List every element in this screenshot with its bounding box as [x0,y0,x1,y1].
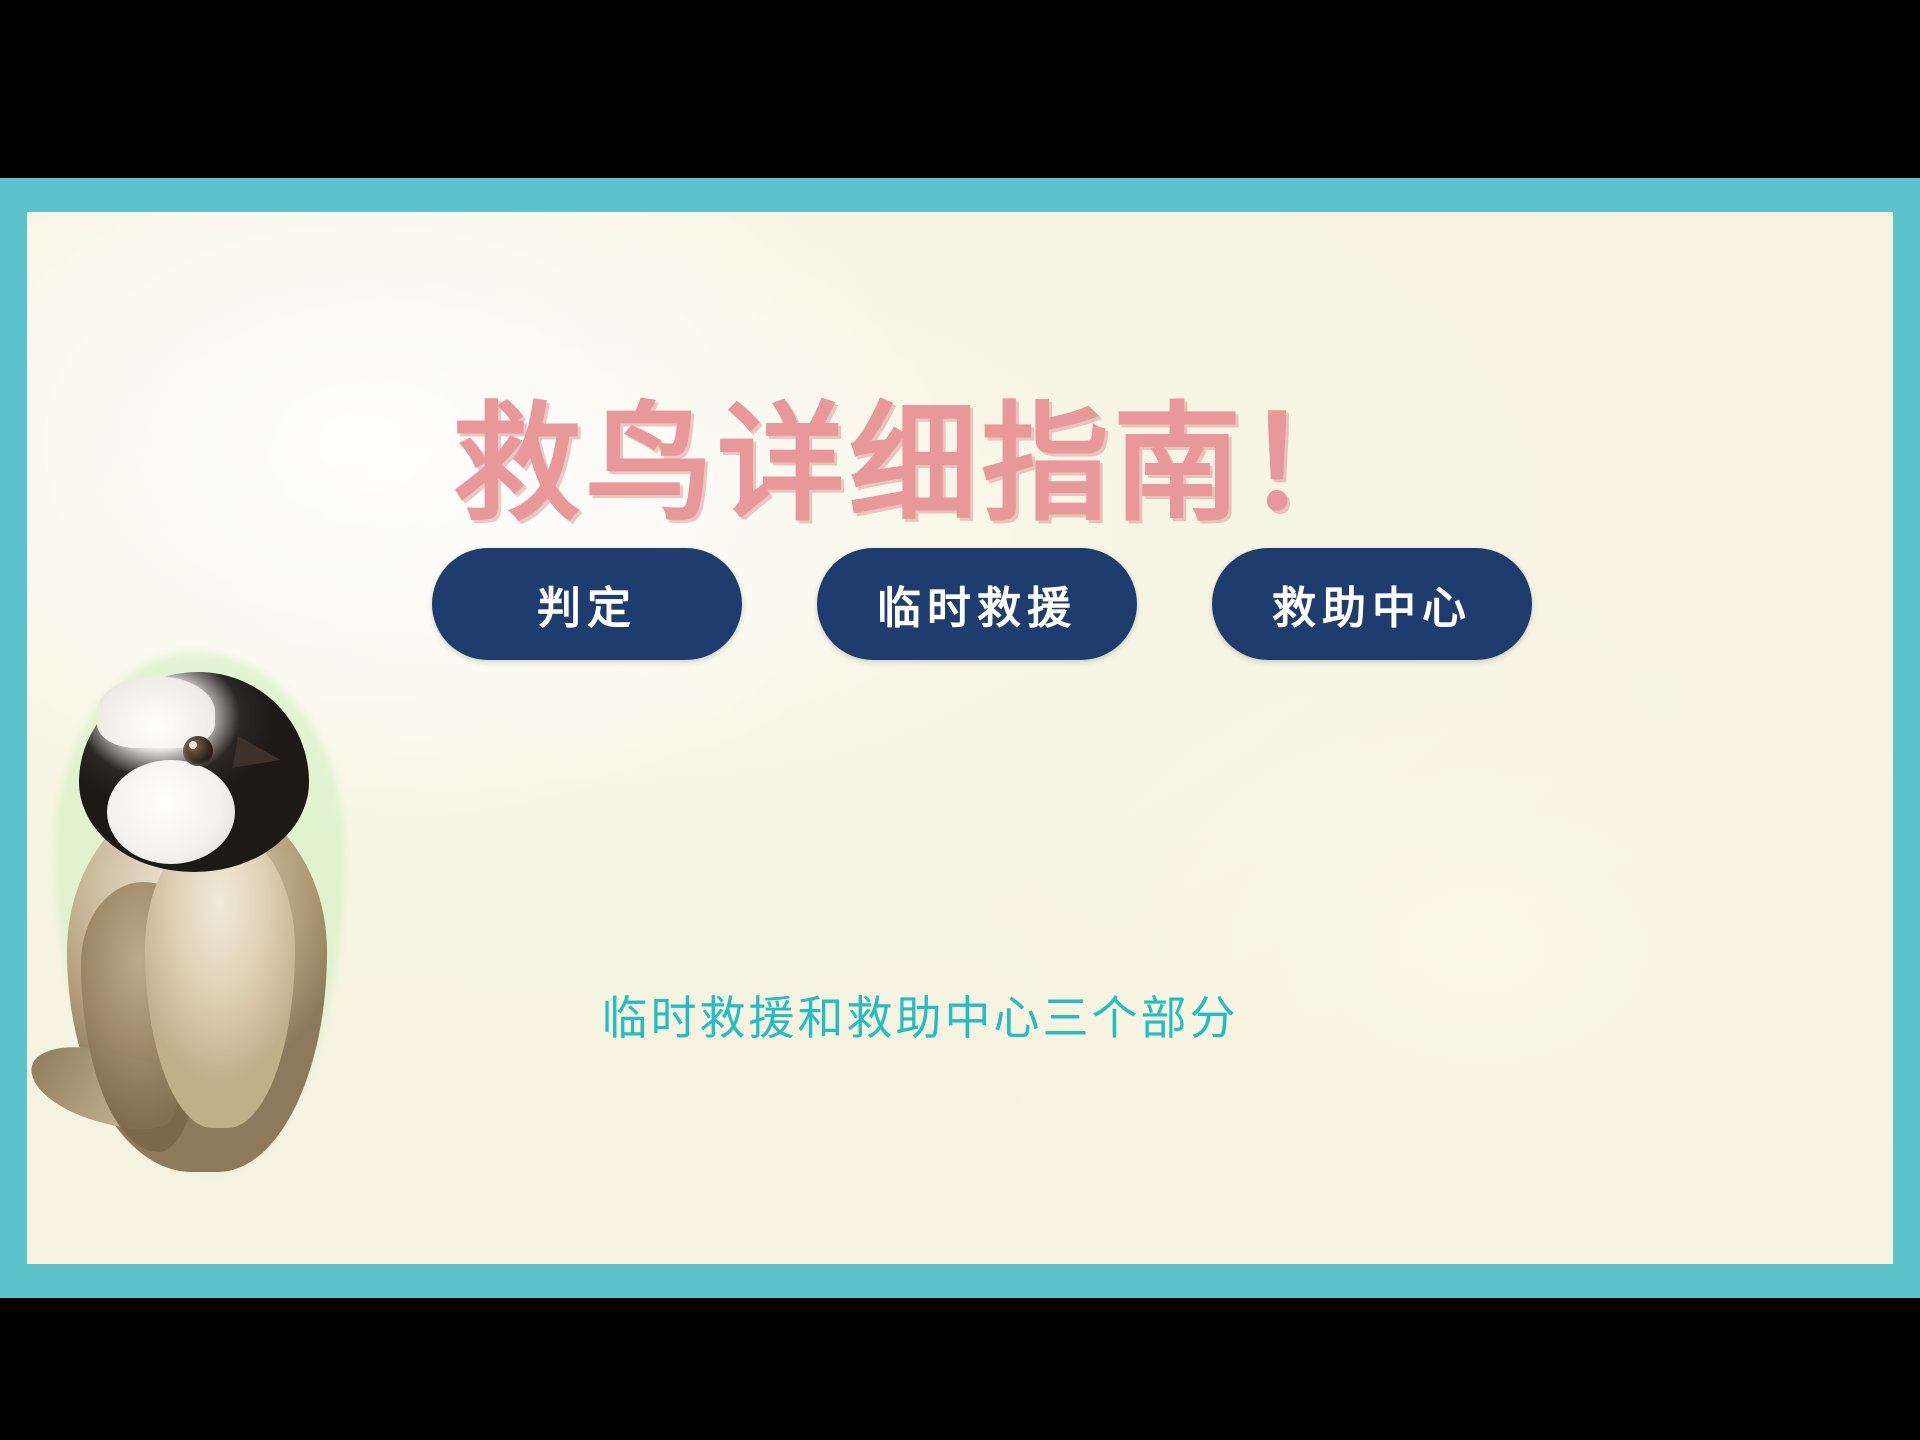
button-temporary-rescue[interactable]: 临时救援 [817,548,1137,660]
bird-cheek-shape [107,760,235,864]
slide-frame-border: 救鸟详细指南！ 判定 临时救援 救助中心 临时救援和救助中心三个部分 [0,178,1920,1298]
video-stage: 救鸟详细指南！ 判定 临时救援 救助中心 临时救援和救助中心三个部分 [0,0,1920,1440]
letterbox-bar-bottom [0,1298,1920,1440]
button-rescue-center[interactable]: 救助中心 [1212,548,1532,660]
page-title: 救鸟详细指南！ [27,398,1893,532]
section-buttons-row: 判定 临时救援 救助中心 [432,548,1532,660]
bird-mascot-image [37,632,457,1192]
button-judgement[interactable]: 判定 [432,548,742,660]
slide-canvas: 救鸟详细指南！ 判定 临时救援 救助中心 临时救援和救助中心三个部分 [27,212,1893,1264]
letterbox-bar-top [0,0,1920,178]
bird-eye-icon [183,736,213,766]
